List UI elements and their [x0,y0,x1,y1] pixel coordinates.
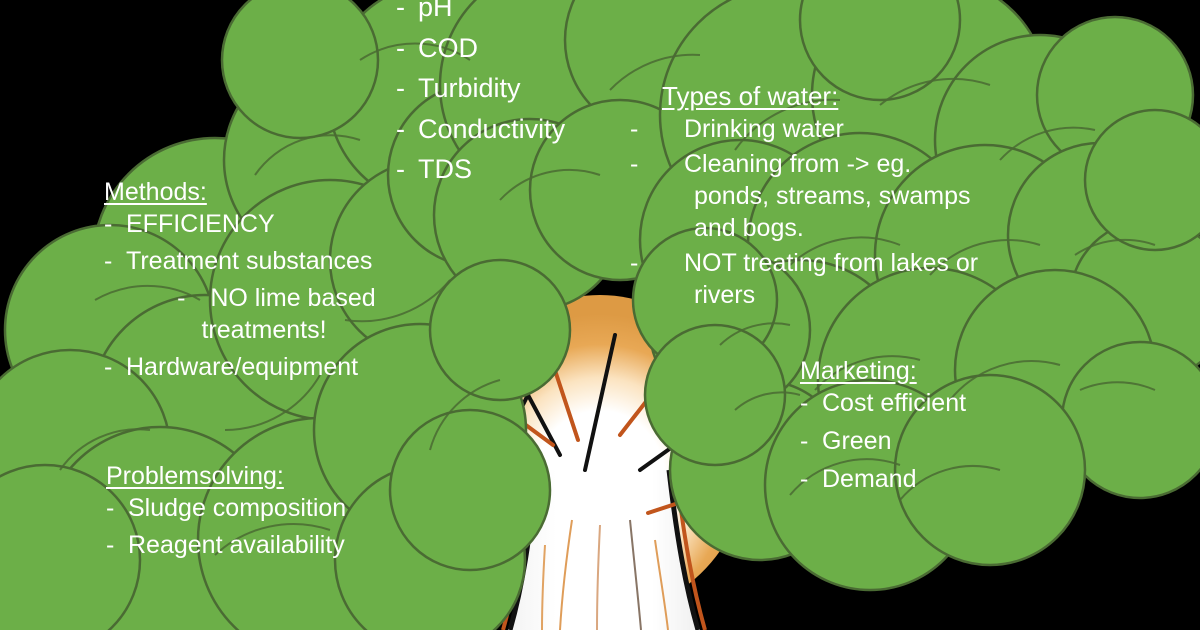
bullet-dash: - [662,247,684,279]
list-item: -EFFICIENCY [104,208,414,240]
list-item-label: NOT treating from lakes or rivers [684,249,978,309]
list-item-label: Reagent availability [128,531,345,559]
list-item: -pH [396,0,565,25]
broccoli-mindmap-canvas: -pH -COD -Turbidity -Conductivity -TDS T… [0,0,1200,630]
list-item: -Cleaning from -> eg. ponds, streams, sw… [662,148,982,244]
bullet-dash: - [152,282,210,314]
marketing-block: Marketing: -Cost efficient -Green -Deman… [800,355,966,501]
list-item-label: Turbidity [418,73,521,103]
list-item-label: Cost efficient [822,389,966,417]
bullet-dash: - [662,113,684,145]
list-item: -NOT treating from lakes or rivers [662,247,982,311]
bullet-dash: - [396,112,418,147]
list-item: -Turbidity [396,71,565,106]
bullet-dash: - [800,463,822,495]
list-item-label: Conductivity [418,114,565,144]
list-item-label: EFFICIENCY [126,210,275,238]
list-item-label: Hardware/equipment [126,353,358,381]
methods-heading: Methods: [104,176,414,208]
problemsolving-heading: Problemsolving: [106,460,346,492]
sub-list-item: -NO lime based treatments! [104,282,414,346]
problemsolving-block: Problemsolving: -Sludge composition -Rea… [106,460,346,566]
list-item: -Drinking water [662,113,982,145]
list-item-label: Green [822,427,891,455]
list-item: -TDS [396,152,565,187]
bullet-dash: - [396,31,418,66]
bullet-dash: - [396,71,418,106]
types-of-water-heading: Types of water: [662,80,982,113]
water-parameters-list: -pH -COD -Turbidity -Conductivity -TDS [396,0,565,193]
bullet-dash: - [800,387,822,419]
marketing-heading: Marketing: [800,355,966,387]
list-item: -Sludge composition [106,492,346,524]
list-item: -Hardware/equipment [104,351,414,383]
list-item-label: COD [418,33,478,63]
list-item: -COD [396,31,565,66]
list-item-label: Cleaning from -> eg. ponds, streams, swa… [684,150,971,242]
bullet-dash: - [800,425,822,457]
bullet-dash: - [104,351,126,383]
list-item-label: Drinking water [684,115,844,143]
list-item-label: TDS [418,154,472,184]
bullet-dash: - [106,529,128,561]
sub-list-item-label: NO lime based treatments! [201,284,375,344]
list-item-label: pH [418,0,453,22]
bullet-dash: - [396,0,418,25]
list-item-label: Sludge composition [128,494,346,522]
list-item: -Treatment substances [104,245,414,277]
bullet-dash: - [662,148,684,180]
methods-block: Methods: -EFFICIENCY -Treatment substanc… [104,176,414,388]
list-item: -Conductivity [396,112,565,147]
bullet-dash: - [104,208,126,240]
list-item-label: Treatment substances [126,247,372,275]
list-item: -Reagent availability [106,529,346,561]
bullet-dash: - [104,245,126,277]
list-item: -Demand [800,463,966,495]
list-item: -Cost efficient [800,387,966,419]
bullet-dash: - [106,492,128,524]
list-item-label: Demand [822,465,917,493]
list-item: -Green [800,425,966,457]
types-of-water-block: Types of water: -Drinking water -Cleanin… [662,80,982,314]
